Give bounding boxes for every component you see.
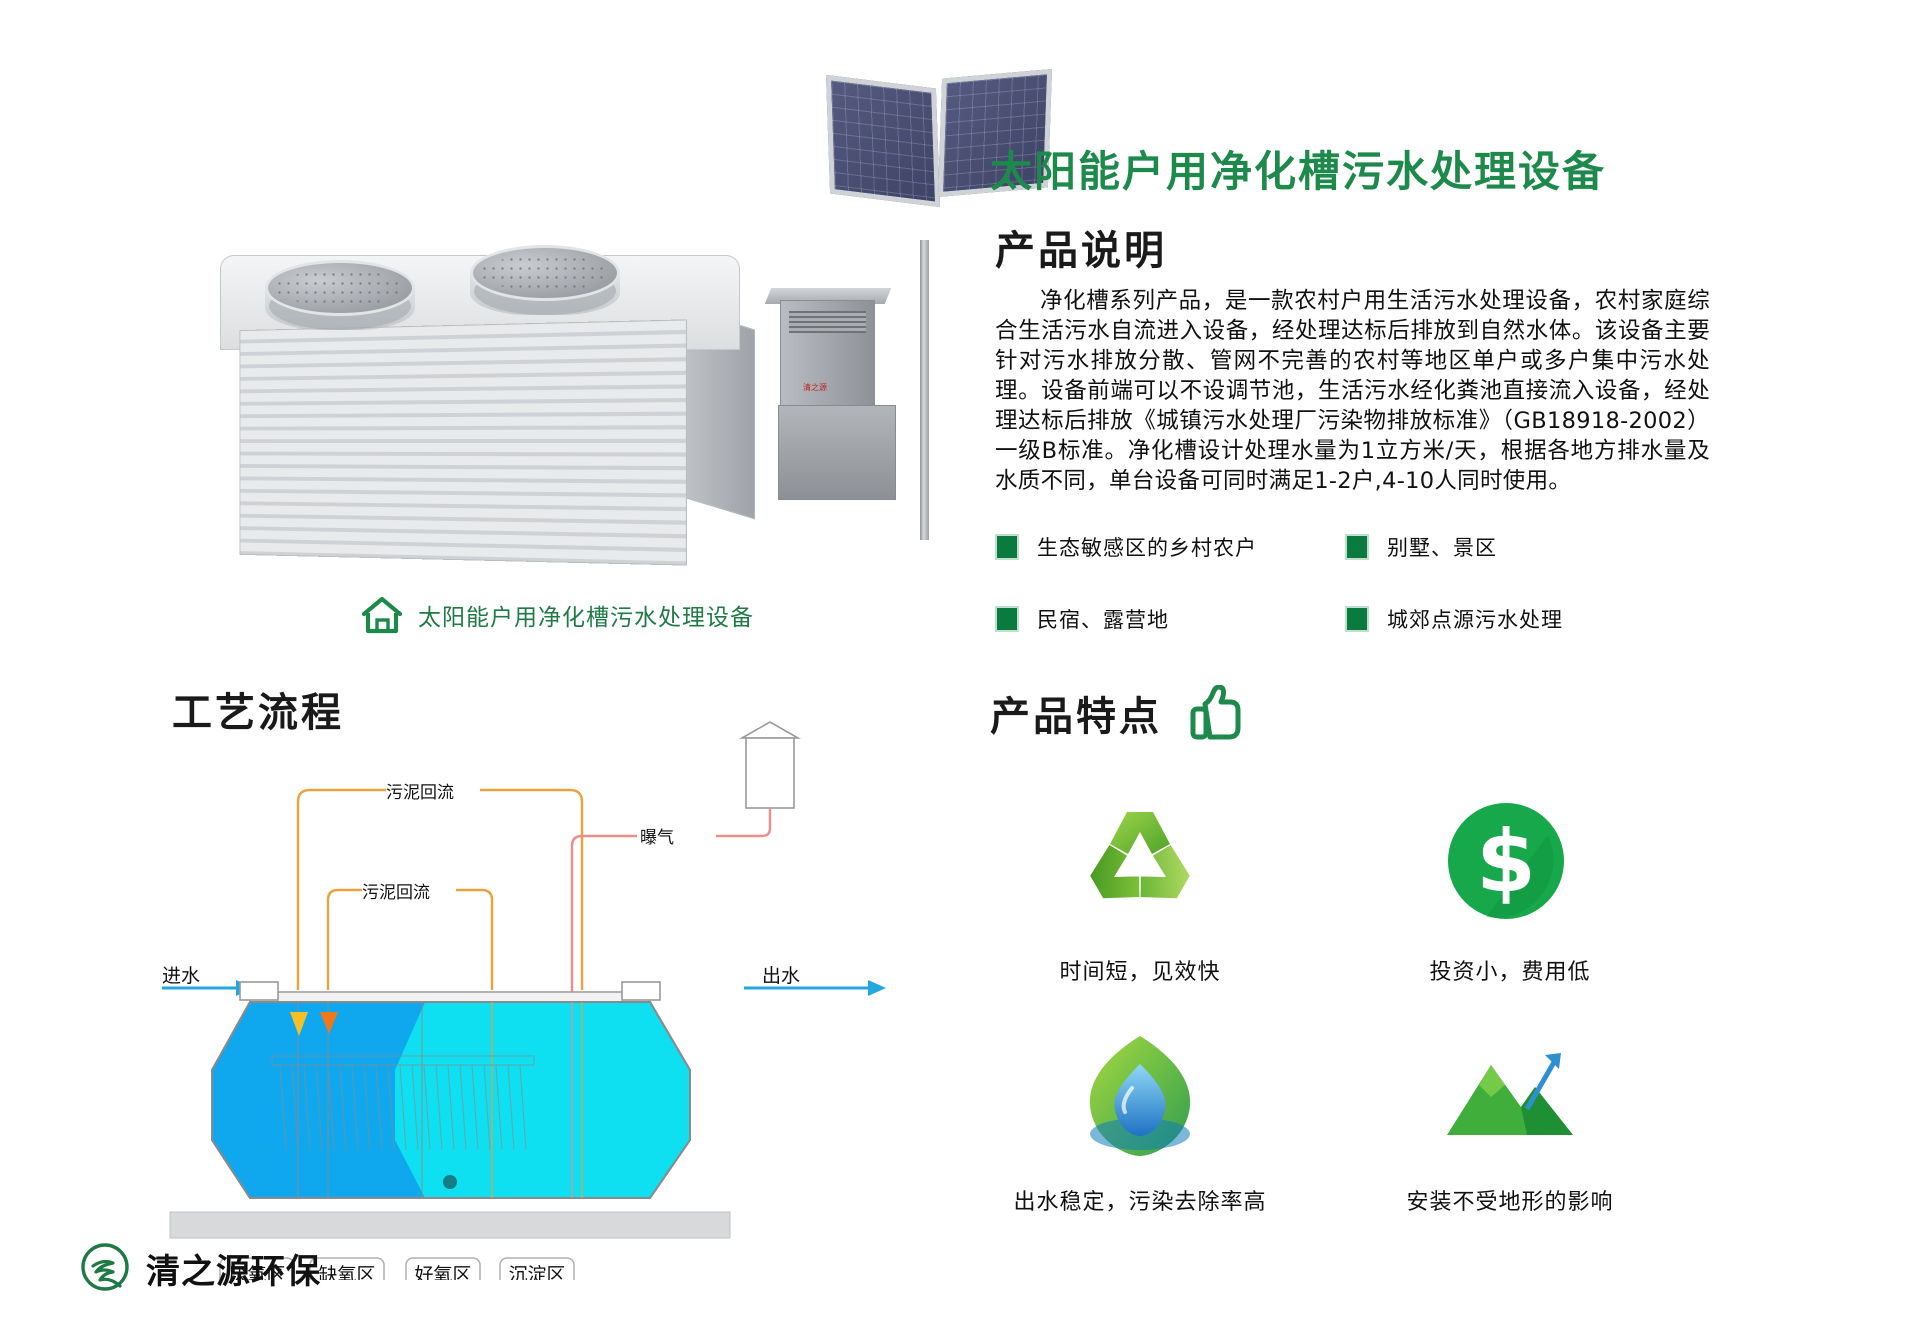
feature-label: 投资小，费用低	[1330, 954, 1690, 986]
feature-label: 出水稳定，污染去除率高	[960, 1184, 1320, 1216]
company-logo: 清之源环保	[78, 1240, 321, 1296]
bullet-square-icon	[995, 606, 1019, 632]
company-name: 清之源环保	[146, 1244, 321, 1293]
application-label: 城郊点源污水处理	[1387, 604, 1563, 634]
feature-item-1: $ 投资小，费用低	[1330, 790, 1690, 986]
bullet-square-icon	[995, 534, 1019, 560]
photo-caption: 太阳能户用净化槽污水处理设备	[360, 595, 754, 635]
house-icon	[360, 595, 404, 635]
blower-unit-icon	[742, 722, 798, 808]
svg-text:$: $	[1476, 812, 1536, 912]
dollar-icon: $	[1330, 790, 1690, 940]
bullet-square-icon	[1345, 534, 1369, 560]
photo-caption-text: 太阳能户用净化槽污水处理设备	[418, 598, 754, 632]
zone-label-1: 缺氧区	[318, 1264, 375, 1280]
brochure-page: 清之源 太阳能户用净化槽污水处理设备 太阳能户用净化槽污水处理设备 产品说明 净…	[0, 0, 1920, 1329]
feature-label: 安装不受地形的影响	[1330, 1184, 1690, 1216]
access-hatch-1	[265, 260, 415, 316]
application-item-3: 城郊点源污水处理	[1315, 604, 1715, 634]
aeration-label: 曝气	[640, 828, 674, 848]
section-title-features-row: 产品特点	[990, 684, 1246, 742]
bullet-square-icon	[1345, 606, 1369, 632]
feature-item-3: 安装不受地形的影响	[1330, 1020, 1690, 1216]
equipment-base	[778, 405, 896, 500]
application-label: 别墅、景区	[1387, 532, 1497, 562]
process-flow-diagram: 污泥回流 曝气 污泥回流 进水	[150, 720, 950, 1280]
description-paragraph: 净化槽系列产品，是一款农村户用生活污水处理设备，农村家庭综合生活污水自流进入设备…	[995, 286, 1710, 496]
access-hatch-2	[470, 245, 620, 301]
sludge-return-lower-label: 污泥回流	[362, 883, 430, 903]
water-drop-icon	[960, 1020, 1320, 1170]
tank-front-face	[239, 319, 687, 565]
thumbs-up-icon	[1188, 685, 1246, 741]
section-title-description: 产品说明	[995, 218, 1167, 276]
solar-pole	[920, 240, 929, 540]
application-item-1: 别墅、景区	[1315, 532, 1715, 562]
sludge-return-upper-label: 污泥回流	[386, 783, 454, 803]
section-title-features: 产品特点	[990, 684, 1162, 742]
application-label: 民宿、露营地	[1037, 604, 1169, 634]
feature-item-2: 出水稳定，污染去除率高	[960, 1020, 1320, 1216]
cabinet-brand-label: 清之源	[803, 382, 827, 393]
outlet-label: 出水	[762, 965, 800, 987]
mountain-icon	[1330, 1020, 1690, 1170]
product-photo: 清之源	[180, 60, 970, 580]
page-title: 太阳能户用净化槽污水处理设备	[990, 138, 1606, 199]
solar-panel-left	[826, 75, 940, 207]
application-item-2: 民宿、露营地	[995, 604, 1315, 634]
feature-item-0: 时间短，见效快	[960, 790, 1320, 986]
cabinet-vent	[789, 311, 866, 333]
feature-label: 时间短，见效快	[960, 954, 1320, 986]
sludge-return-lower-line	[328, 890, 492, 990]
qzy-circle-icon	[78, 1240, 134, 1296]
control-cabinet: 清之源	[780, 300, 875, 410]
zone-label-2: 好氧区	[414, 1264, 471, 1280]
concrete-base-slab	[170, 1212, 730, 1238]
feature-list: 时间短，见效快 $ 投资小，费用低	[960, 790, 1740, 1240]
application-item-0: 生态敏感区的乡村农户	[995, 532, 1315, 562]
application-list: 生态敏感区的乡村农户 别墅、景区 民宿、露营地 城郊点源污水处理	[995, 532, 1715, 634]
zone-label-3: 沉淀区	[508, 1264, 565, 1280]
application-label: 生态敏感区的乡村农户	[1037, 532, 1257, 562]
recycle-icon	[960, 790, 1320, 940]
inlet-label: 进水	[162, 965, 200, 987]
tank-cross-section	[212, 982, 690, 1198]
